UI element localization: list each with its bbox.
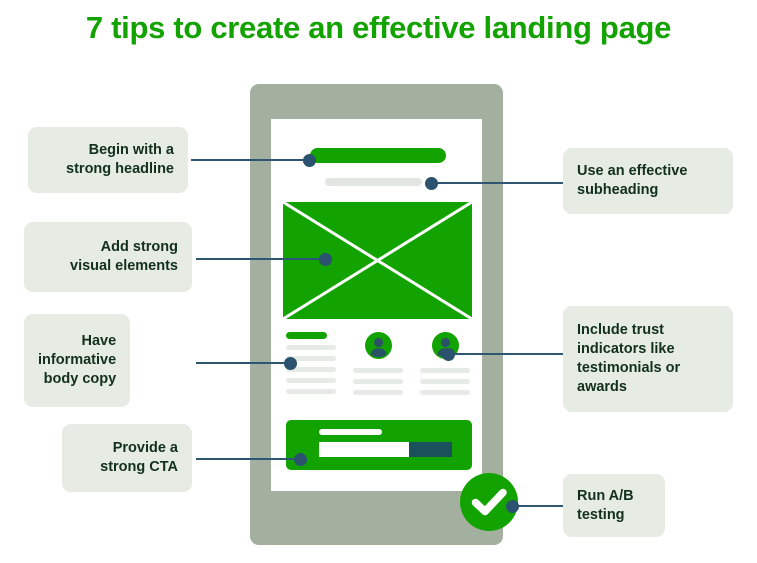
- callout-line: body copy: [44, 370, 117, 389]
- mockup-text-line: [420, 379, 470, 384]
- callout-provide-strong-cta[interactable]: Provide a strong CTA: [62, 424, 192, 492]
- callout-line: visual elements: [70, 257, 178, 276]
- mockup-text-line: [420, 390, 470, 395]
- callout-line: Begin with a: [89, 141, 174, 160]
- callout-line: Add strong: [101, 238, 178, 257]
- callout-line: subheading: [577, 181, 658, 200]
- connector-line: [431, 182, 563, 184]
- mockup-cta-label-bar: [319, 429, 382, 435]
- callout-include-trust-indicators[interactable]: Include trust indicators like testimonia…: [563, 306, 733, 412]
- infographic-canvas: 7 tips to create an effective landing pa…: [0, 0, 757, 563]
- callout-line: testing: [577, 506, 625, 525]
- callout-line: Provide a: [113, 439, 178, 458]
- mockup-headline-bar: [310, 148, 446, 163]
- callout-line: Run A/B: [577, 487, 634, 506]
- callout-line: testimonials or: [577, 359, 680, 378]
- mockup-text-line: [353, 368, 403, 373]
- mockup-text-line: [286, 389, 336, 394]
- connector-line: [196, 362, 291, 364]
- mockup-column-heading-bar: [286, 332, 327, 339]
- connector-line: [512, 505, 563, 507]
- mockup-cta-block: [286, 420, 472, 470]
- connector-dot: [284, 357, 297, 370]
- connector-dot: [425, 177, 438, 190]
- mockup-text-line: [353, 379, 403, 384]
- mockup-text-line: [353, 390, 403, 395]
- callout-line: informative: [38, 351, 116, 370]
- avatar-person-icon: [365, 332, 392, 359]
- mockup-text-line: [420, 368, 470, 373]
- callout-run-ab-testing[interactable]: Run A/B testing: [563, 474, 665, 537]
- callout-line: strong CTA: [100, 458, 178, 477]
- mockup-image-placeholder: [283, 202, 472, 319]
- callout-begin-with-strong-headline[interactable]: Begin with a strong headline: [28, 127, 188, 193]
- connector-dot: [303, 154, 316, 167]
- callout-line: strong headline: [66, 160, 174, 179]
- connector-line: [448, 353, 563, 355]
- callout-line: awards: [577, 378, 627, 397]
- connector-dot: [319, 253, 332, 266]
- mockup-cta-input-field[interactable]: [319, 442, 409, 457]
- callout-line: Use an effective: [577, 162, 687, 181]
- callout-line: Have: [82, 332, 117, 351]
- mockup-text-line: [286, 378, 336, 383]
- connector-line: [196, 458, 301, 460]
- connector-line: [191, 159, 310, 161]
- mockup-text-line: [286, 345, 336, 350]
- callout-add-strong-visual-elements[interactable]: Add strong visual elements: [24, 222, 192, 292]
- connector-dot: [506, 500, 519, 513]
- mockup-body-columns: [286, 332, 472, 404]
- mockup-subheading-bar: [325, 178, 422, 186]
- mockup-cta-submit-button[interactable]: [409, 442, 452, 457]
- connector-line: [196, 258, 326, 260]
- mockup-testimonial-column-1: [353, 332, 403, 401]
- connector-dot: [442, 348, 455, 361]
- callout-line: Include trust: [577, 321, 664, 340]
- page-title: 7 tips to create an effective landing pa…: [0, 10, 757, 46]
- image-placeholder-cross-icon: [283, 202, 472, 319]
- callout-use-effective-subheading[interactable]: Use an effective subheading: [563, 148, 733, 214]
- mockup-testimonial-column-2: [420, 332, 470, 401]
- callout-have-informative-body-copy[interactable]: Have informative body copy: [24, 314, 130, 407]
- callout-line: indicators like: [577, 340, 675, 359]
- connector-dot: [294, 453, 307, 466]
